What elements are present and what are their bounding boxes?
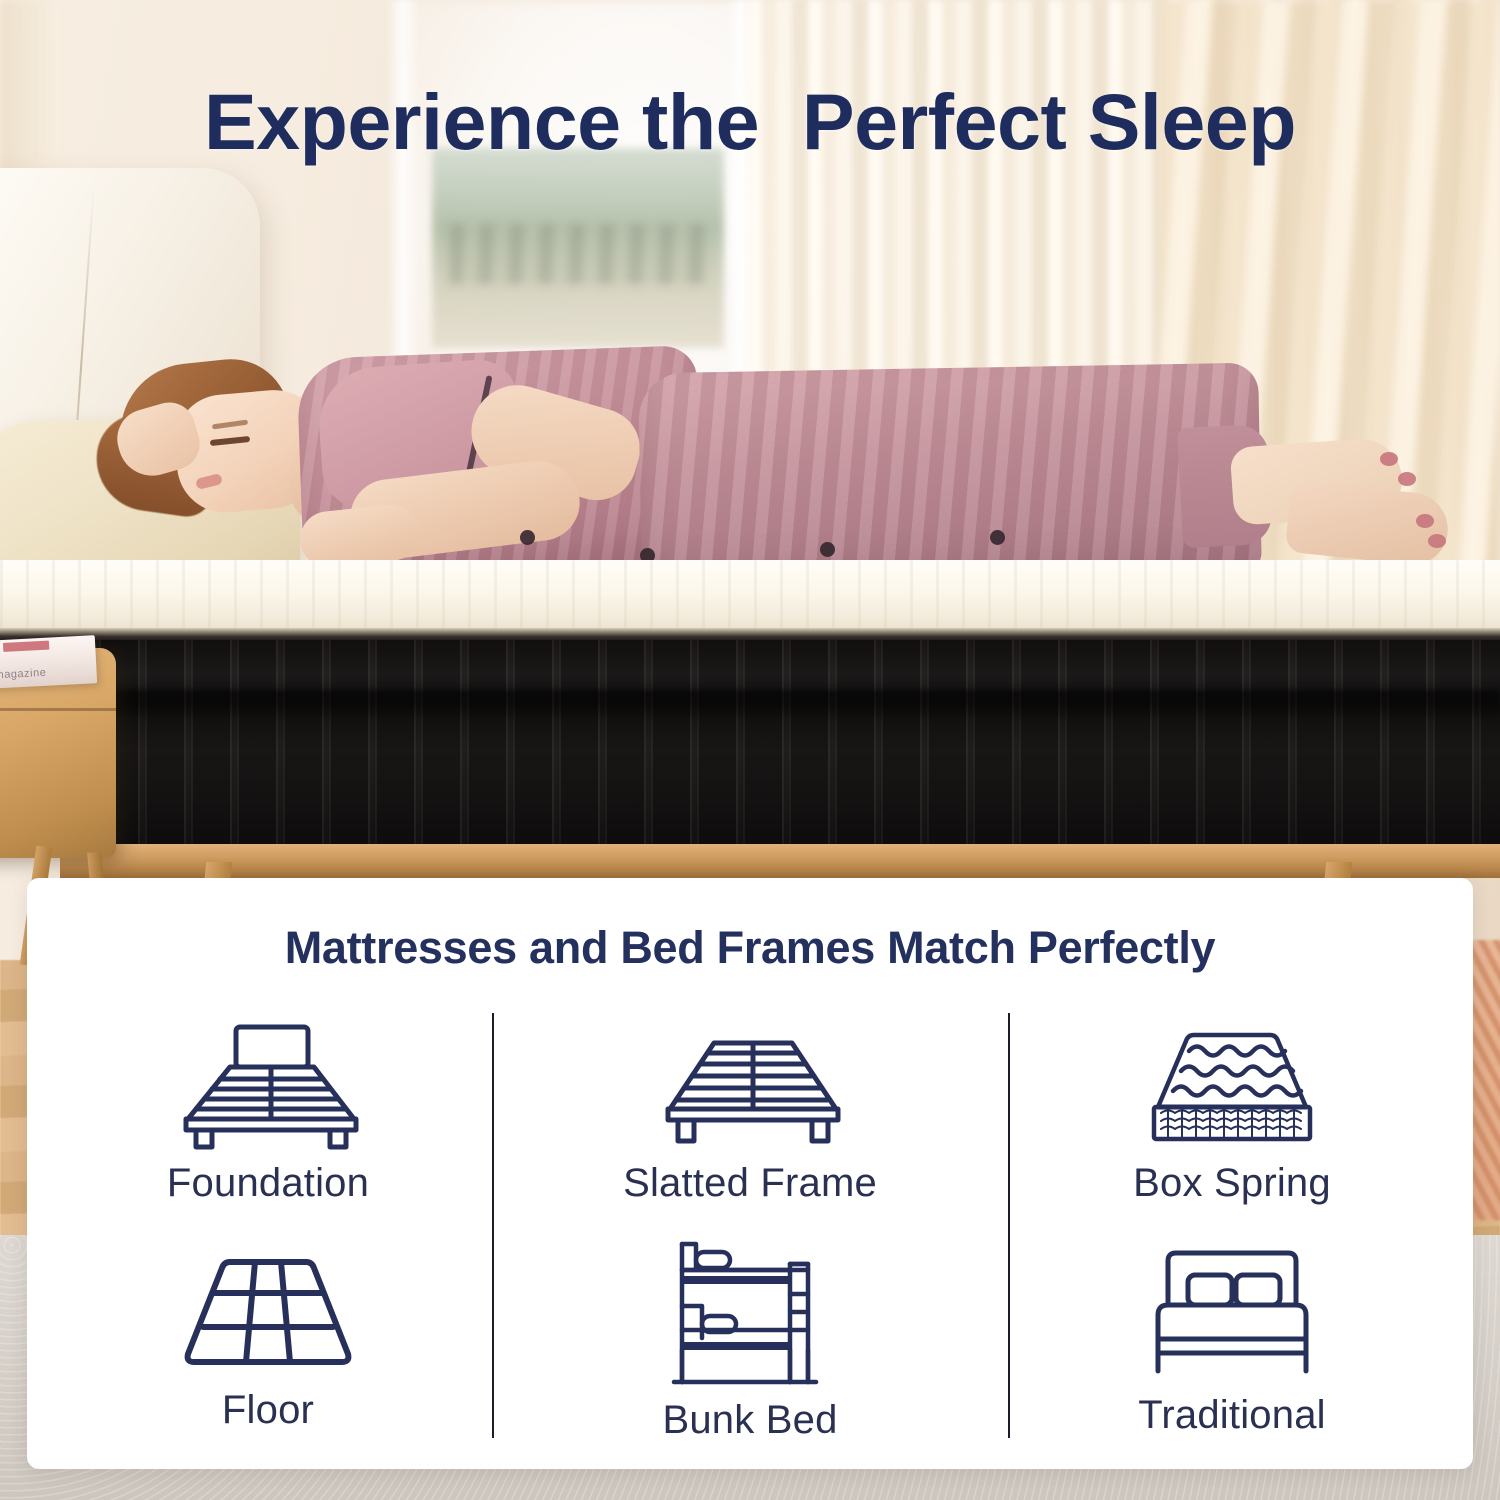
- feature-floor[interactable]: Floor: [27, 1226, 509, 1454]
- page-title: Experience the Perfect Sleep: [0, 82, 1500, 161]
- pajama-button: [820, 542, 835, 557]
- feature-box-spring[interactable]: Box Spring: [991, 998, 1473, 1226]
- bed-foundation-icon: [168, 1021, 368, 1151]
- feature-label: Box Spring: [1133, 1163, 1331, 1203]
- bunk-bed-icon: [650, 1238, 850, 1388]
- wooden-bed-rail: [60, 844, 1500, 878]
- features-card: Mattresses and Bed Frames Match Perfectl…: [27, 878, 1473, 1469]
- window-view: [432, 148, 724, 348]
- magazine-book: magazine: [0, 635, 97, 689]
- feature-bunk-bed[interactable]: Bunk Bed: [509, 1226, 991, 1454]
- feature-label: Foundation: [167, 1163, 369, 1203]
- magazine-stripe: [3, 641, 49, 652]
- pajama-button: [520, 530, 535, 545]
- feature-label: Slatted Frame: [623, 1163, 877, 1203]
- pajama-pants: [638, 363, 1262, 589]
- feature-label: Floor: [222, 1390, 314, 1430]
- mattress-groove: [0, 690, 1500, 716]
- mattress-quilted-top: [0, 560, 1500, 638]
- product-infographic: magazine Experience the Perfect Sleep Ma…: [0, 0, 1500, 1500]
- pajama-button: [990, 530, 1005, 545]
- mattress-side-panel: [0, 640, 1500, 852]
- feature-label: Traditional: [1138, 1395, 1325, 1435]
- feature-slatted-frame[interactable]: Slatted Frame: [509, 998, 991, 1226]
- card-title: Mattresses and Bed Frames Match Perfectl…: [27, 922, 1473, 974]
- feature-label: Bunk Bed: [662, 1400, 837, 1440]
- slatted-frame-icon: [650, 1021, 850, 1151]
- compatibility-grid: Foundation Slatted Frame: [27, 998, 1473, 1453]
- toenail: [1380, 452, 1398, 466]
- toenail: [1398, 472, 1416, 486]
- feature-traditional[interactable]: Traditional: [991, 1226, 1473, 1454]
- feature-foundation[interactable]: Foundation: [27, 998, 509, 1226]
- toenail: [1428, 534, 1446, 548]
- floor-tiles-icon: [168, 1248, 368, 1378]
- magazine-label: magazine: [0, 667, 47, 682]
- box-spring-icon: [1132, 1021, 1332, 1151]
- traditional-bed-icon: [1132, 1243, 1332, 1383]
- toenail: [1416, 514, 1434, 528]
